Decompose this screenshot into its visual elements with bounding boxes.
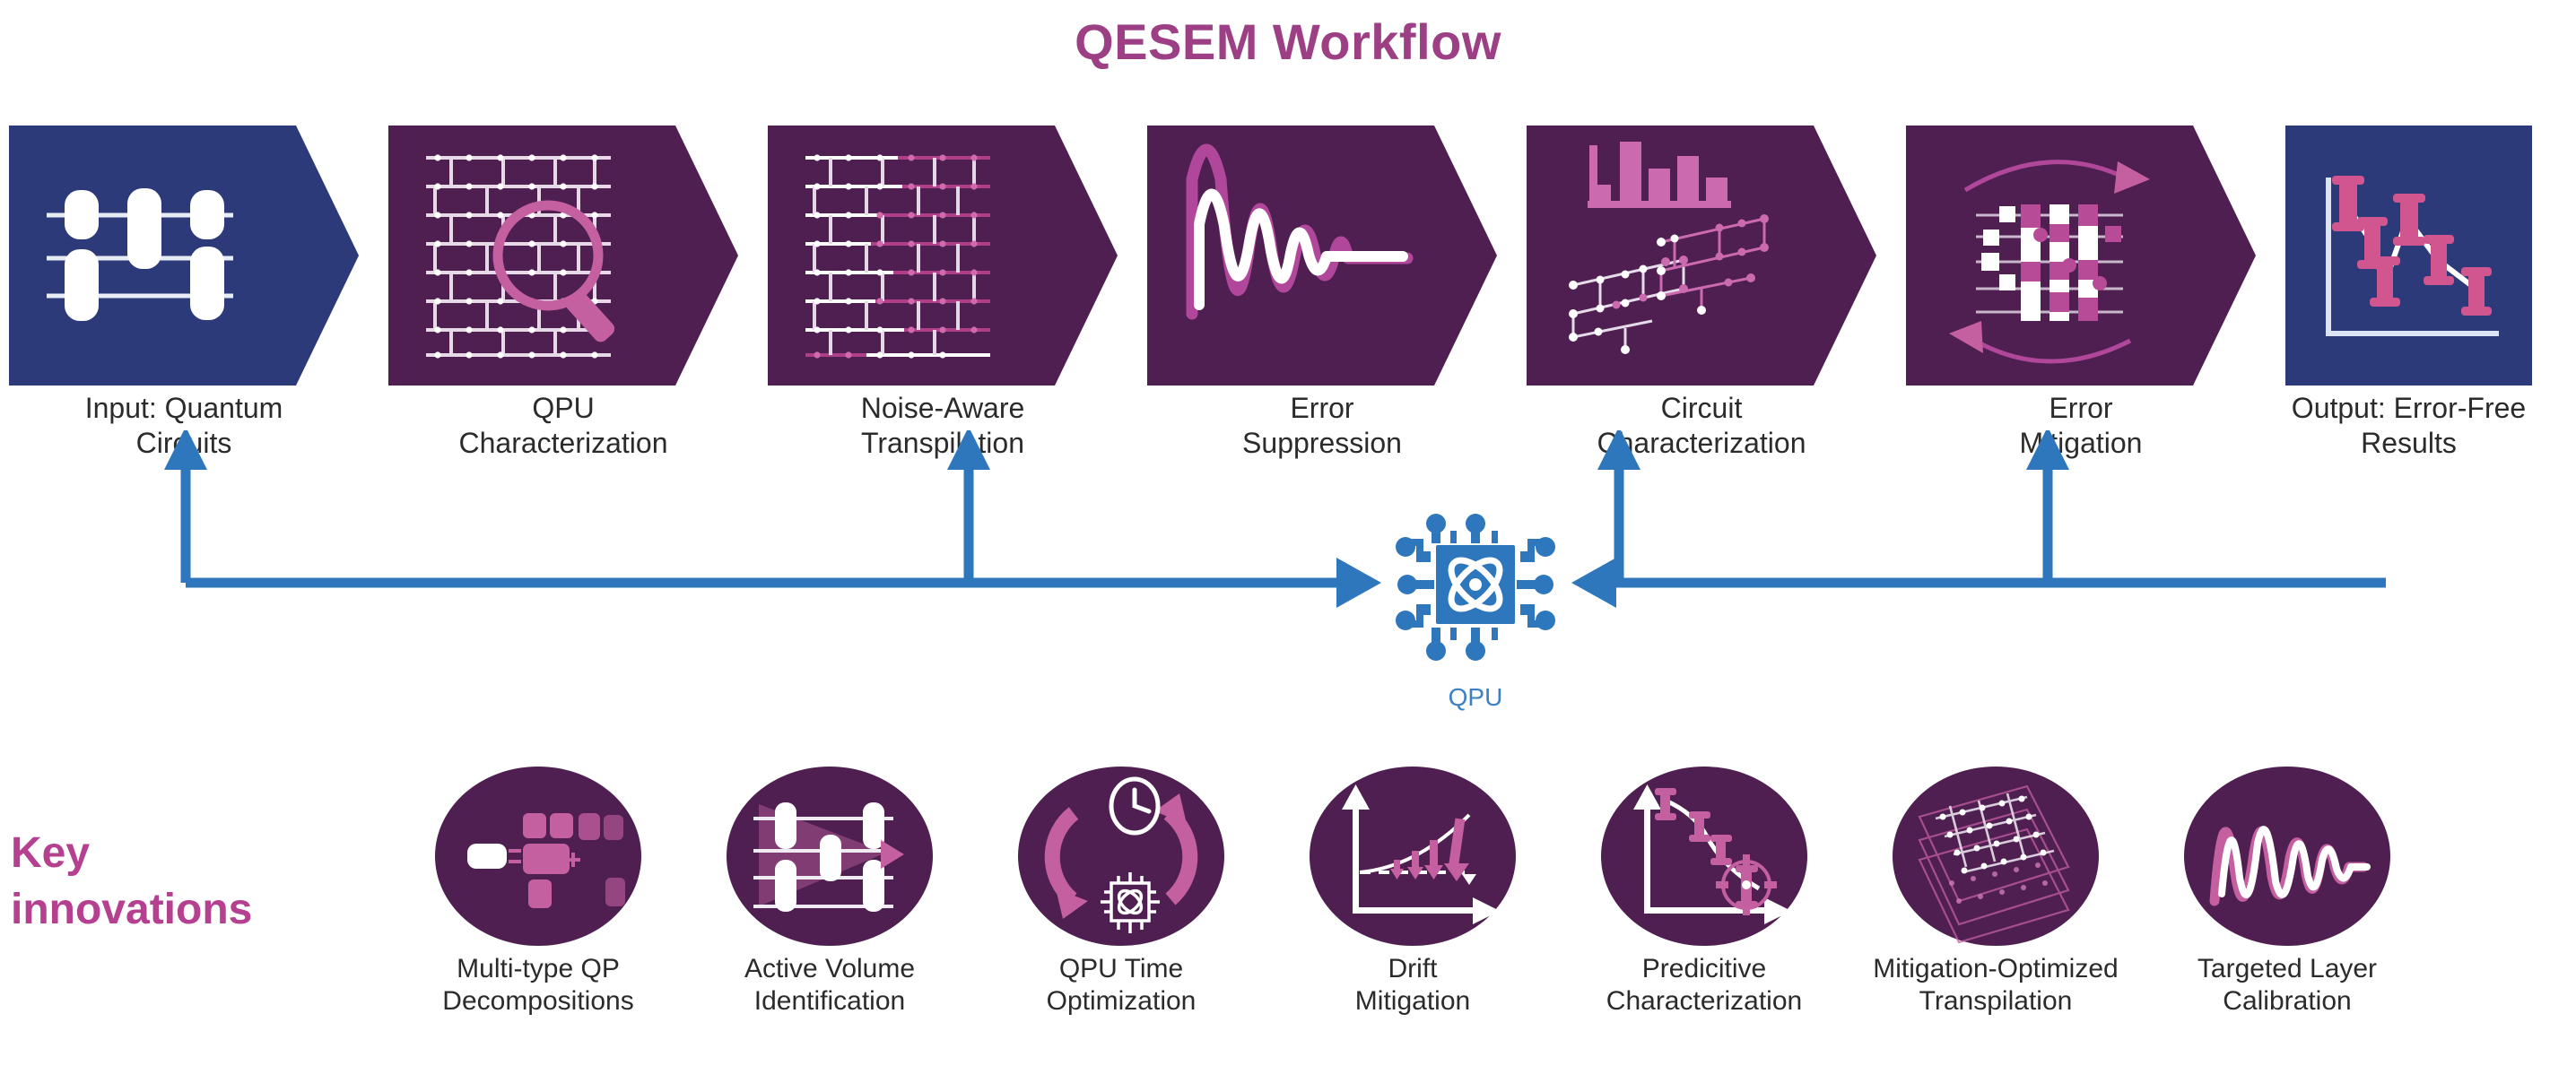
innovation-multi-type-qp-decompositions[interactable]: Multi-type QP Decompositions bbox=[435, 767, 641, 946]
workflow-stage-output-error-free-results[interactable]: Output: Error-Free Results bbox=[2285, 126, 2532, 386]
layered-lattice-icon bbox=[1893, 767, 2099, 946]
page-title: QESEM Workflow bbox=[0, 13, 2576, 71]
innovation-mitigation-optimized-transpilation[interactable]: Mitigation-Optimized Transpilation bbox=[1893, 767, 2099, 946]
workflow-stage-error-suppression[interactable]: Error Suppression bbox=[1147, 126, 1497, 386]
innovation-targeted-layer-calibration[interactable]: Targeted Layer Calibration bbox=[2184, 767, 2390, 946]
workflow-stage-input-quantum-circuits[interactable]: Input: Quantum Circuits bbox=[9, 126, 359, 386]
workflow-stage-qpu-characterization[interactable]: QPU Characterization bbox=[388, 126, 738, 386]
qpu-feedback-wires bbox=[0, 430, 2576, 690]
innovation-disc bbox=[435, 767, 641, 946]
stage-shape bbox=[1147, 126, 1497, 386]
clock-cycle-chip-icon bbox=[1018, 767, 1224, 946]
cycle-arrow-top bbox=[1965, 161, 2150, 194]
innovation-disc bbox=[727, 767, 933, 946]
cycle-arrow-bottom bbox=[1949, 321, 2130, 361]
innovation-label: Drift Mitigation bbox=[1256, 953, 1570, 1018]
key-innovations-heading: Key innovations bbox=[11, 825, 396, 939]
clock-glyph bbox=[1111, 779, 1158, 833]
errorbar-plot-icon bbox=[2285, 126, 2532, 386]
innovation-label: Multi-type QP Decompositions bbox=[381, 953, 695, 1018]
circular-arrows-circuit-icon bbox=[1906, 126, 2256, 386]
innovation-disc bbox=[1601, 767, 1807, 946]
innovation-label: Predicitive Characterization bbox=[1547, 953, 1861, 1018]
stage-shape bbox=[2285, 126, 2532, 386]
innovation-active-volume-identification[interactable]: Active Volume Identification bbox=[727, 767, 933, 946]
innovation-label: Targeted Layer Calibration bbox=[2130, 953, 2444, 1018]
stage-shape bbox=[9, 126, 359, 386]
bar-chart-glyph bbox=[1588, 142, 1731, 208]
innovation-disc bbox=[1018, 767, 1224, 946]
magnifier-glyph bbox=[498, 205, 617, 345]
errorbar-markers bbox=[2332, 176, 2492, 316]
stage-shape bbox=[1527, 126, 1876, 386]
histogram-layers-icon bbox=[1527, 126, 1876, 386]
drift-curve-icon bbox=[1310, 767, 1516, 946]
target-errorbar-icon bbox=[1601, 767, 1807, 946]
lattice-magnifier-icon bbox=[388, 126, 738, 386]
stage-shape bbox=[388, 126, 738, 386]
workflow-stage-noise-aware-transpilation[interactable]: Noise-Aware Transpilation bbox=[768, 126, 1118, 386]
innovation-label: Active Volume Identification bbox=[673, 953, 987, 1018]
qpu-chip-icon[interactable] bbox=[1386, 502, 1565, 672]
qpu-label: QPU bbox=[1386, 683, 1565, 712]
innovation-label: Mitigation-Optimized Transpilation bbox=[1839, 953, 2153, 1018]
light-cone-circuit-icon bbox=[727, 767, 933, 946]
innovation-predicitive-characterization[interactable]: Predicitive Characterization bbox=[1601, 767, 1807, 946]
chip-glyph bbox=[1101, 872, 1160, 933]
innovation-disc bbox=[1310, 767, 1516, 946]
workflow-stage-error-mitigation[interactable]: Error Mitigation bbox=[1906, 126, 2256, 386]
gate-blocks-icon bbox=[435, 767, 641, 946]
damped-oscillation-icon bbox=[1147, 126, 1497, 386]
stage-shape bbox=[768, 126, 1118, 386]
innovation-disc bbox=[1893, 767, 2099, 946]
innovation-label: QPU Time Optimization bbox=[964, 953, 1278, 1018]
quantum-circuit-icon bbox=[9, 126, 359, 386]
brickwork-lattice-icon bbox=[768, 126, 1118, 386]
innovation-disc bbox=[2184, 767, 2390, 946]
stage-shape bbox=[1906, 126, 2256, 386]
workflow-stage-circuit-characterization[interactable]: Circuit Characterization bbox=[1527, 126, 1876, 386]
waveform-calibration-icon bbox=[2184, 767, 2390, 946]
errorbar-markers bbox=[1655, 788, 1758, 908]
axes bbox=[1633, 784, 1791, 924]
innovation-drift-mitigation[interactable]: Drift Mitigation bbox=[1310, 767, 1516, 946]
innovation-qpu-time-optimization[interactable]: QPU Time Optimization bbox=[1018, 767, 1224, 946]
